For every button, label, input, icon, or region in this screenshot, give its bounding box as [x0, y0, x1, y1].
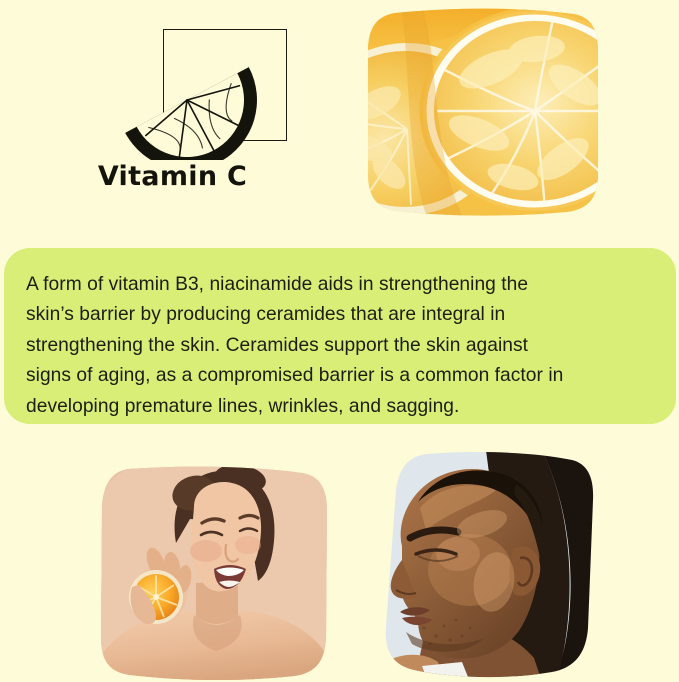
- vitamin-c-title: Vitamin C: [0, 160, 345, 194]
- man-profile-photo: [366, 450, 598, 682]
- vitamin-c-badge: Vitamin C: [0, 0, 345, 225]
- lemon-slices-photo: [367, 7, 599, 217]
- woman-with-orange-photo: [98, 465, 330, 682]
- description-text: A form of vitamin B3, niacinamide aids i…: [26, 270, 666, 422]
- vitamin-c-logo: [0, 0, 345, 152]
- description-card: A form of vitamin B3, niacinamide aids i…: [4, 248, 676, 424]
- vitamin-c-infographic: Vitamin C: [0, 0, 679, 682]
- lemon-wedge-icon: [110, 40, 270, 160]
